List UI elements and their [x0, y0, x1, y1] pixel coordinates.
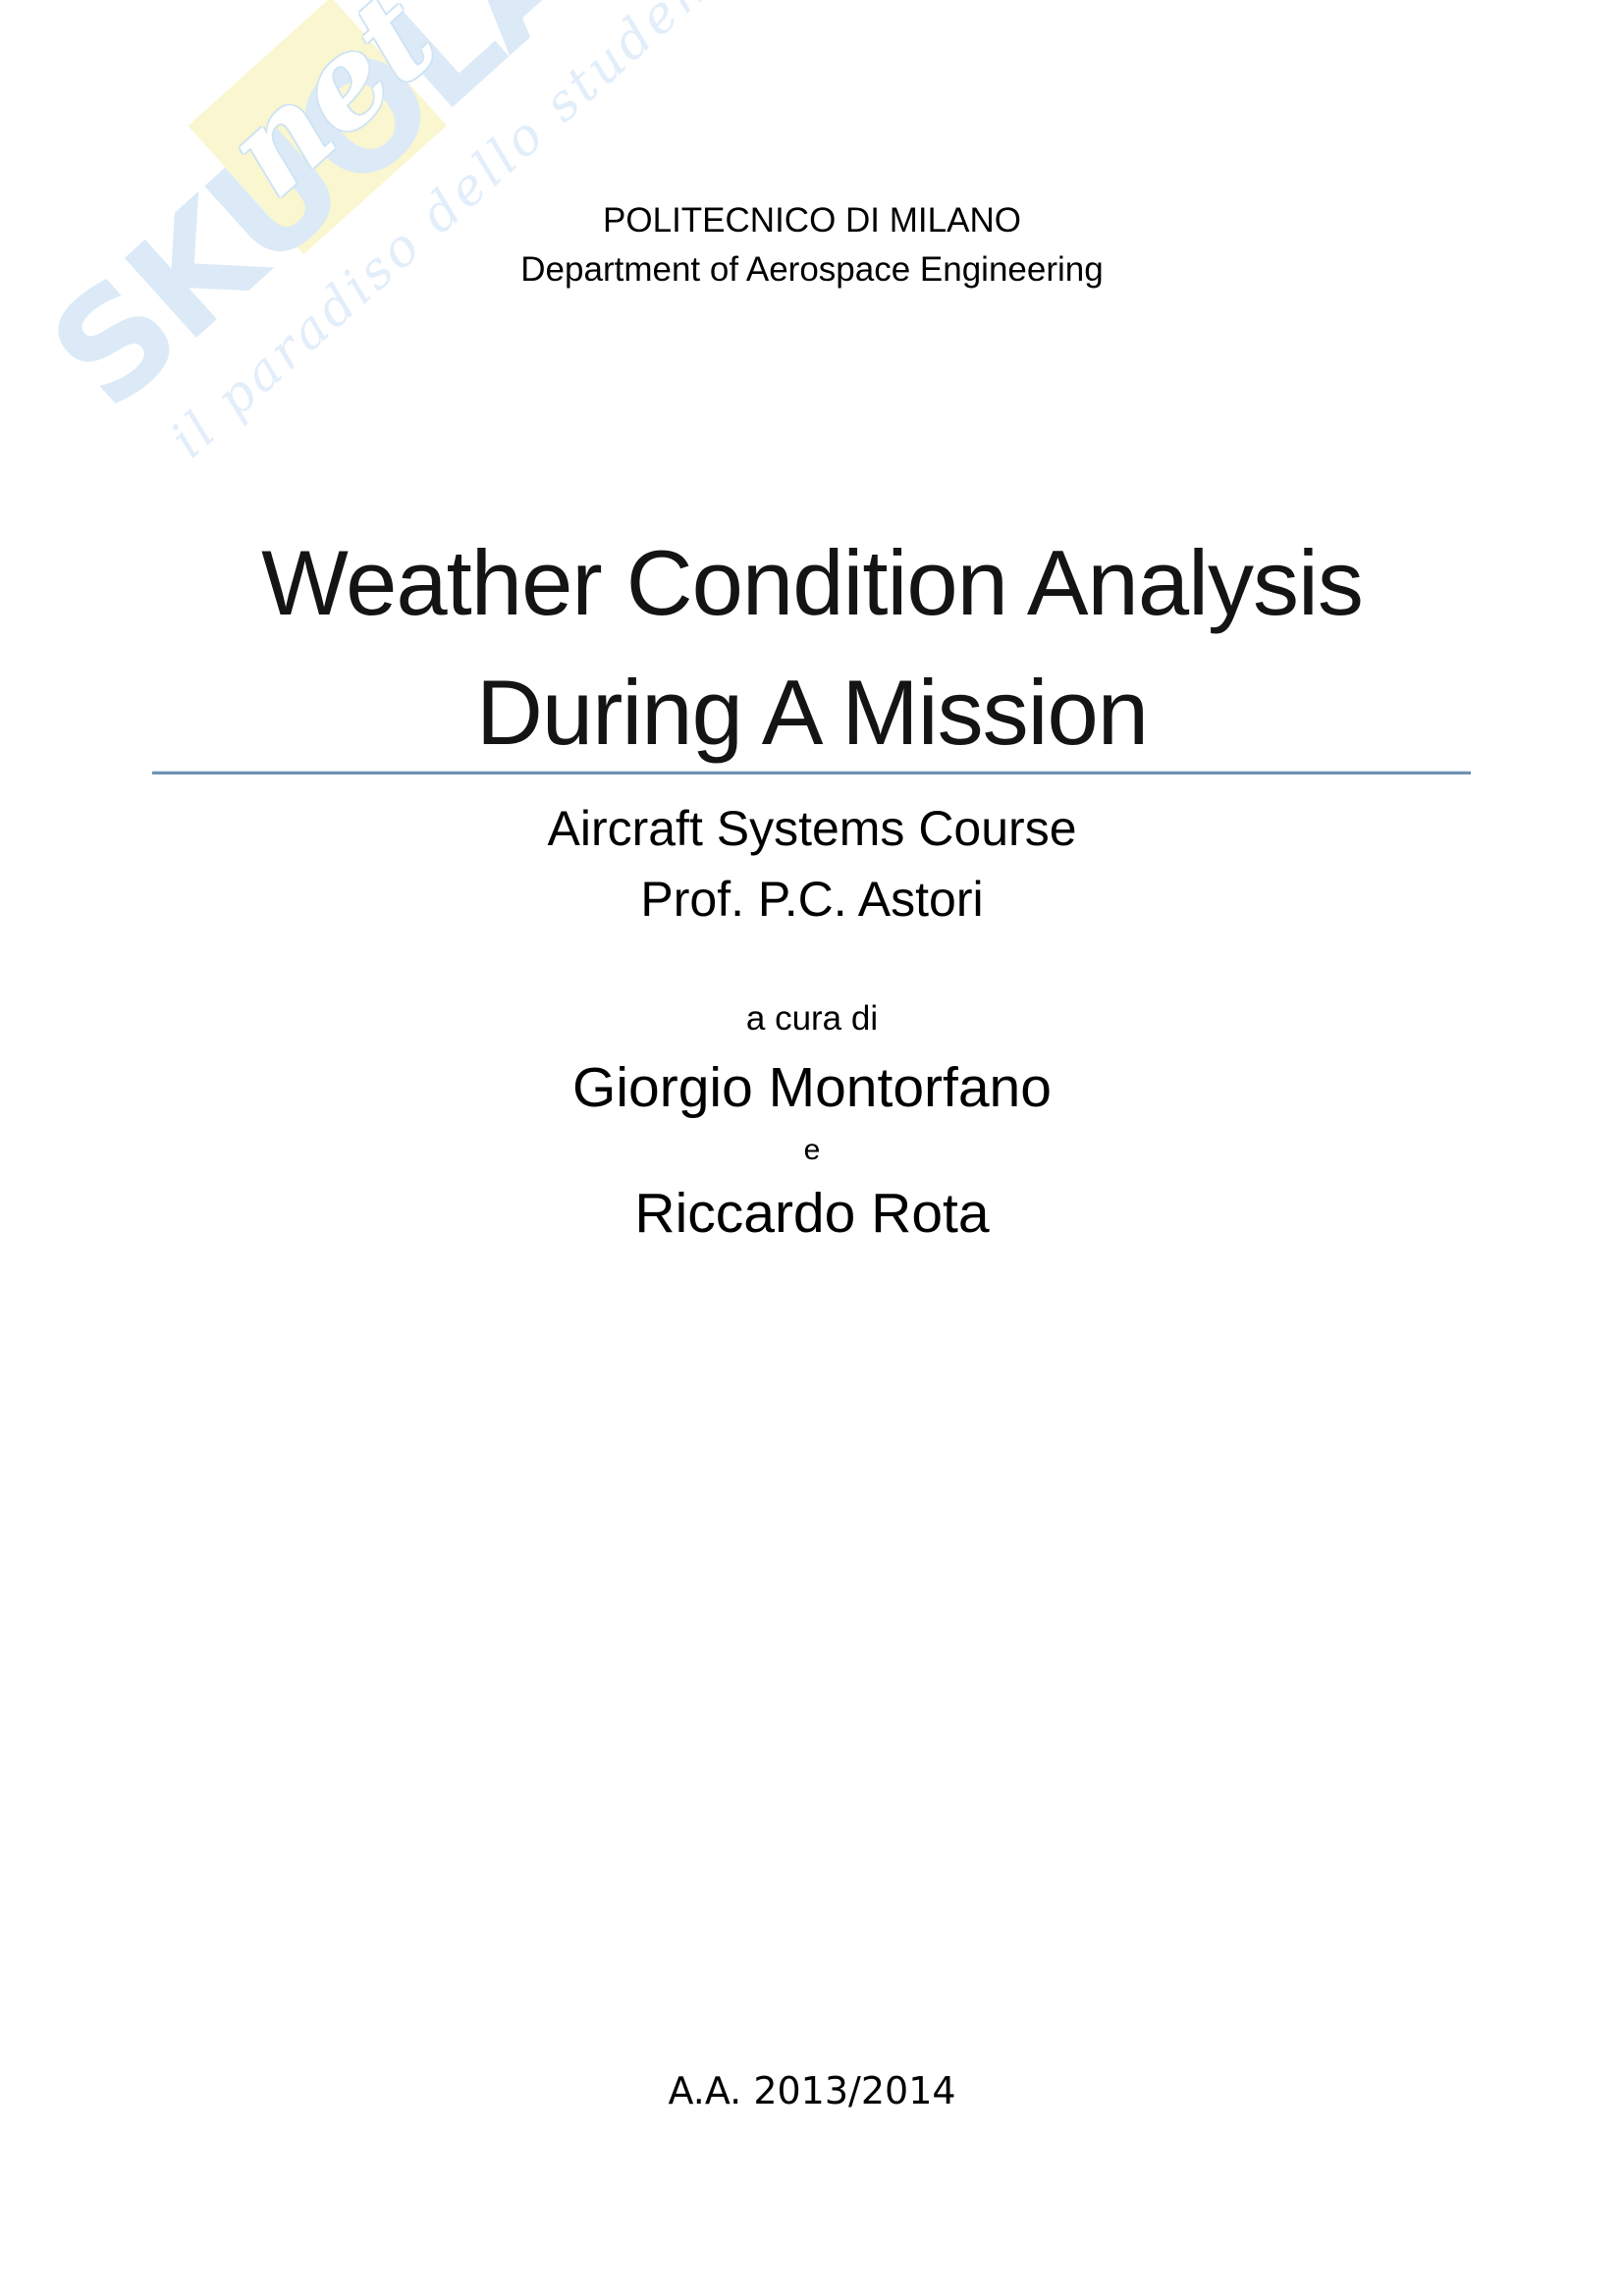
course-info: Aircraft Systems Course Prof. P.C. Astor… — [0, 793, 1624, 934]
authors-lead-in: a cura di — [0, 991, 1624, 1046]
watermark-suffix-text: net — [205, 0, 456, 216]
course-name: Aircraft Systems Course — [0, 793, 1624, 864]
title-line-2: During A Mission — [0, 648, 1624, 777]
document-title: Weather Condition Analysis During A Miss… — [0, 518, 1624, 777]
department-name: Department of Aerospace Engineering — [0, 245, 1624, 294]
title-divider — [152, 771, 1471, 774]
author-first: Giorgio Montorfano — [0, 1046, 1624, 1129]
organization-name: POLITECNICO DI MILANO — [0, 196, 1624, 245]
institution-header: POLITECNICO DI MILANO Department of Aero… — [0, 196, 1624, 294]
professor-name: Prof. P.C. Astori — [0, 864, 1624, 934]
skuola-watermark: SKUOLA net il paradiso dello studente — [29, 20, 717, 569]
author-second: Riccardo Rota — [0, 1172, 1624, 1255]
cover-page: SKUOLA net il paradiso dello studente PO… — [0, 0, 1624, 2296]
title-line-1: Weather Condition Analysis — [0, 518, 1624, 648]
authors-block: a cura di Giorgio Montorfano e Riccardo … — [0, 991, 1624, 1255]
authors-conjunction: e — [0, 1129, 1624, 1172]
academic-year-footer: A.A. 2013/2014 — [0, 2066, 1624, 2115]
